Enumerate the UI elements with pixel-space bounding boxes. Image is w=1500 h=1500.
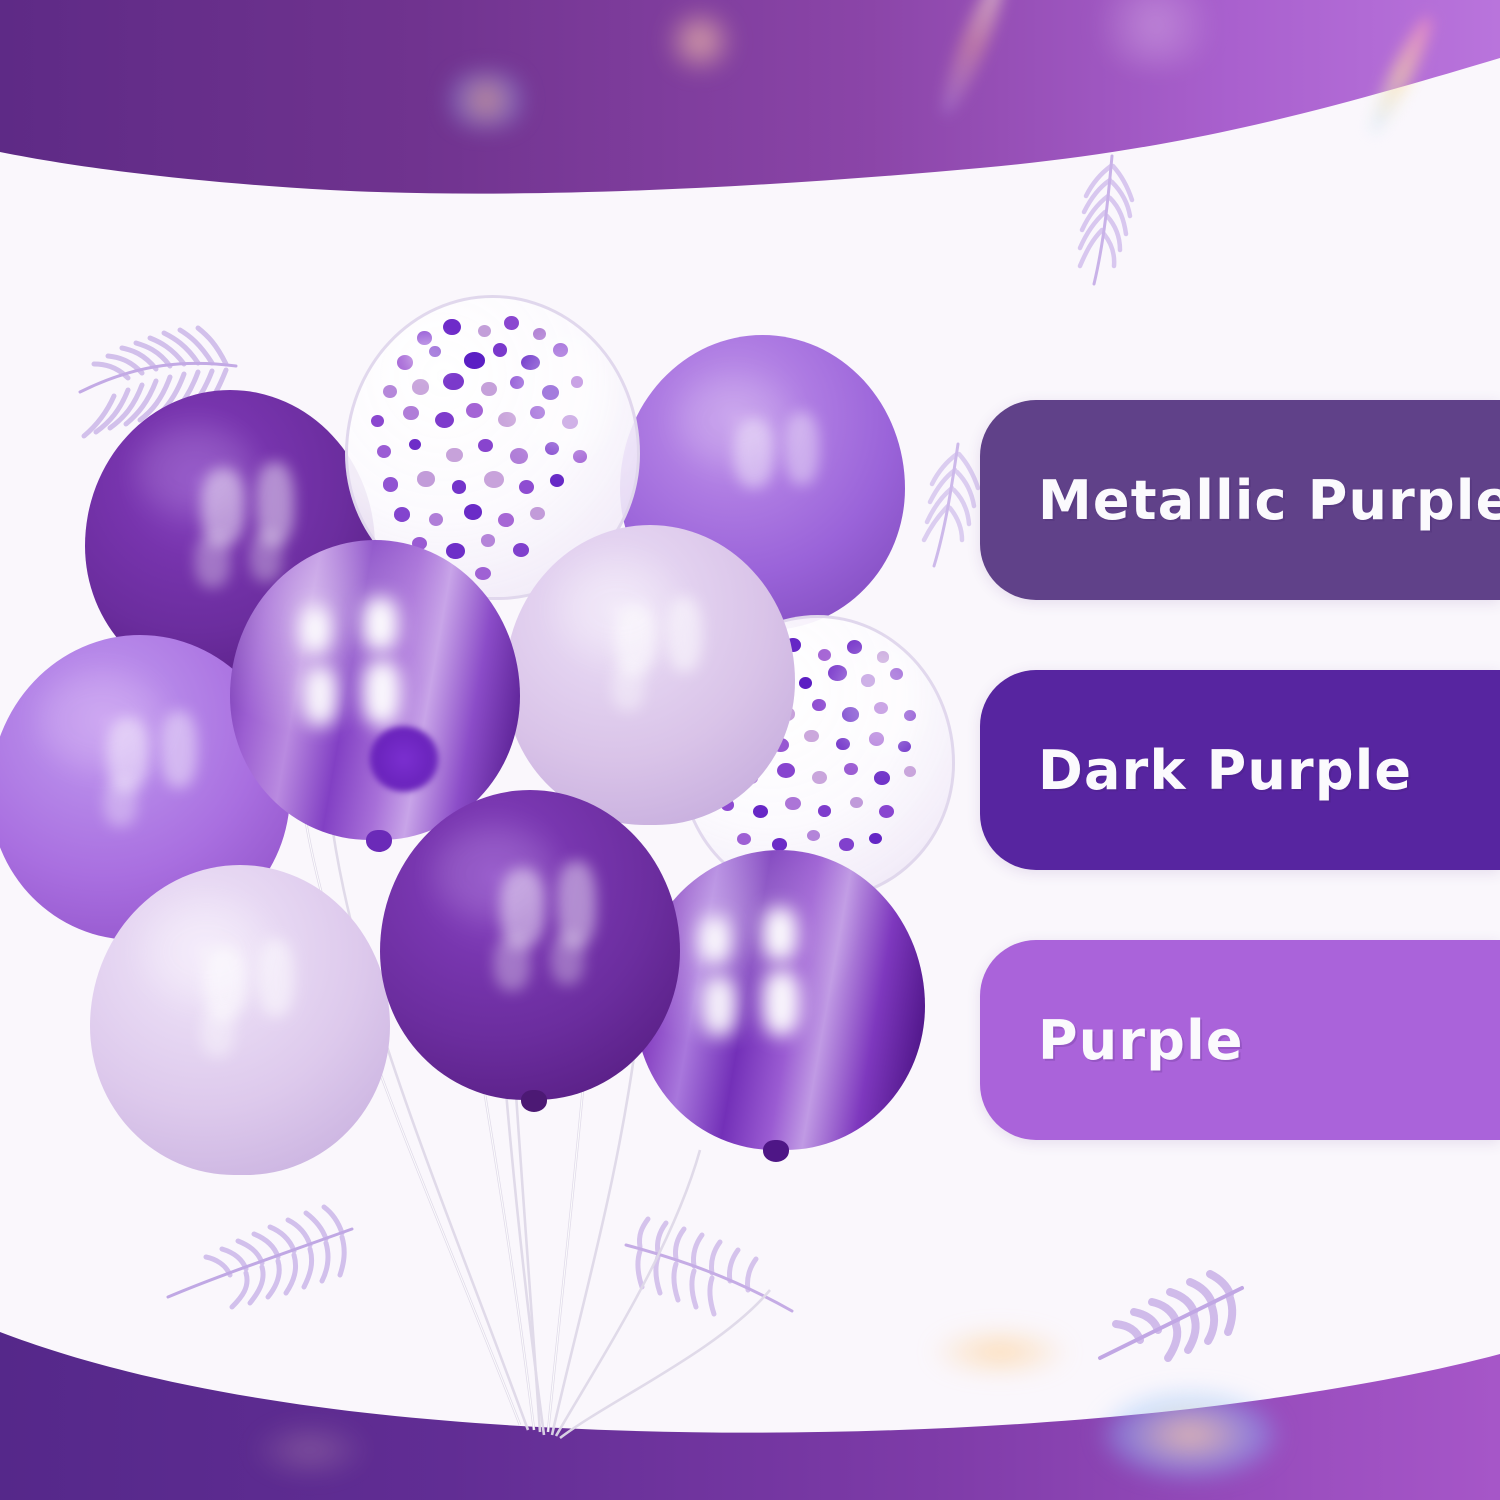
product-image-canvas: Metallic Purple Dark Purple Purple bbox=[0, 0, 1500, 1500]
top-wave-band bbox=[0, 0, 1500, 240]
label-dark-purple[interactable]: Dark Purple bbox=[980, 670, 1500, 870]
lavender-balloon-center bbox=[505, 525, 795, 825]
label-purple[interactable]: Purple bbox=[980, 940, 1500, 1140]
label-purple-text: Purple bbox=[980, 1009, 1244, 1072]
metallic-balloon-right bbox=[635, 850, 925, 1150]
lavender-balloon-bottom bbox=[90, 865, 390, 1175]
label-metallic-purple-text: Metallic Purple bbox=[980, 469, 1500, 532]
dark-purple-balloon-bottom bbox=[380, 790, 680, 1100]
color-label-list: Metallic Purple Dark Purple Purple bbox=[980, 400, 1500, 1210]
label-dark-purple-text: Dark Purple bbox=[980, 739, 1412, 802]
metallic-balloon-left bbox=[230, 540, 520, 840]
balloon-cluster bbox=[0, 250, 1000, 1450]
label-metallic-purple[interactable]: Metallic Purple bbox=[980, 400, 1500, 600]
